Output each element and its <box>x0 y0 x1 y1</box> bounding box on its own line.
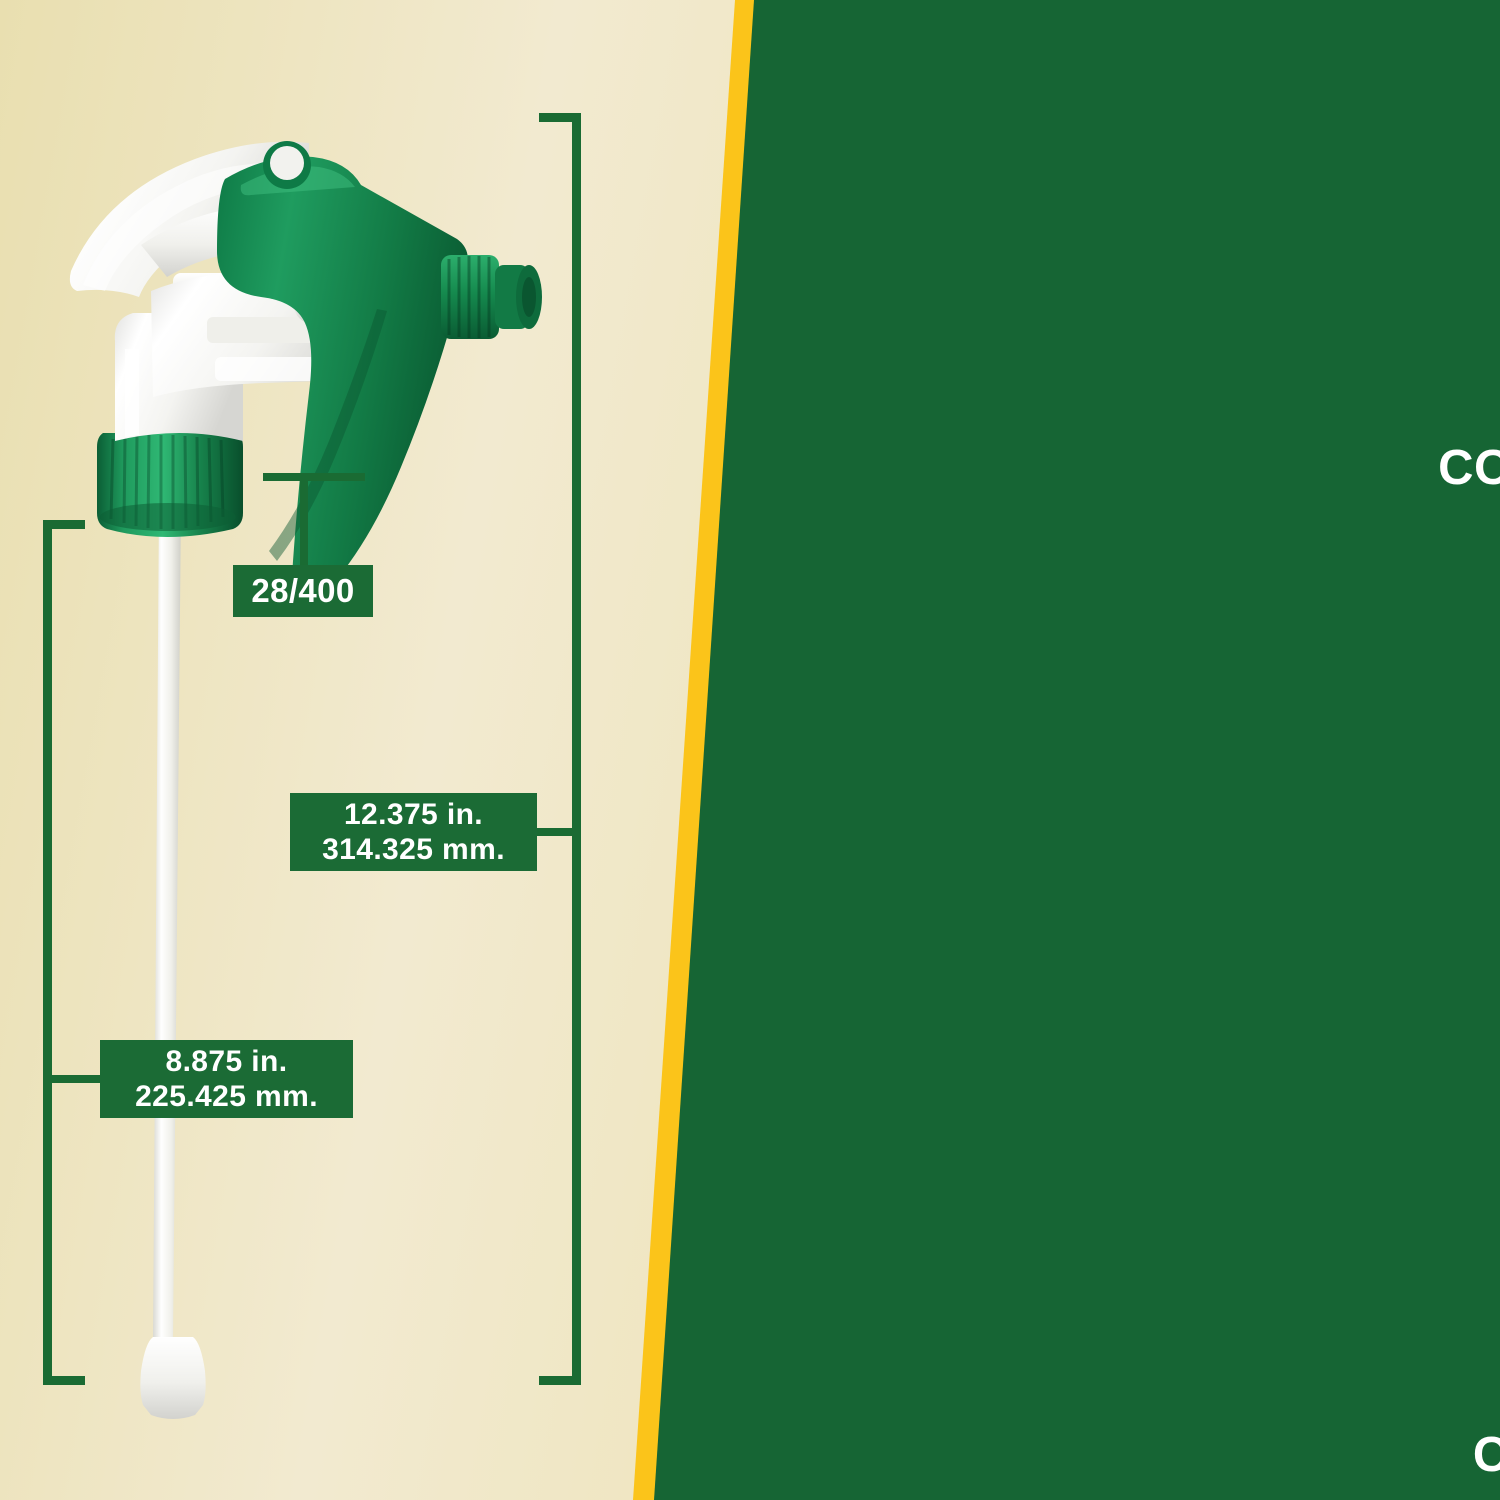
product-panel: 28/400 12.375 in. 314.325 mm. 8.875 in. … <box>0 0 760 1500</box>
feature-chemical-resistant: 250 200 <box>1340 1083 1500 1483</box>
callout-overall-length: 12.375 in. 314.325 mm. <box>290 793 537 871</box>
callout-neck-finish: 28/400 <box>233 565 373 617</box>
overall-leader-horizontal <box>533 828 579 836</box>
feature-no-leak-system: NO LEAK SYSTEM <box>1340 588 1500 994</box>
callout-neck-finish-line-1: 28/400 <box>251 572 354 611</box>
neck-leader-horizontal <box>263 473 365 481</box>
callout-dip-tube-length-line-1: 8.875 in. <box>165 1044 287 1079</box>
feature-chemical-resistant-title: CHEMICAL RESISTANT <box>1473 1427 1500 1483</box>
callout-overall-length-line-1: 12.375 in. <box>344 797 483 832</box>
trigger-sprayer-image <box>55 105 615 1425</box>
features-panel: COMFORTABLE TRIGGER <box>680 0 1500 1500</box>
feature-comfortable-trigger-title: COMFORTABLE TRIGGER <box>1438 440 1500 496</box>
tube-leader-horizontal <box>46 1075 108 1083</box>
neck-leader-vertical <box>300 473 308 569</box>
infographic-canvas: 28/400 12.375 in. 314.325 mm. 8.875 in. … <box>0 0 1500 1500</box>
feature-comfortable-trigger: COMFORTABLE TRIGGER <box>1340 88 1500 496</box>
callout-dip-tube-length: 8.875 in. 225.425 mm. <box>100 1040 353 1118</box>
callout-overall-length-line-2: 314.325 mm. <box>322 832 505 867</box>
callout-dip-tube-length-line-2: 225.425 mm. <box>135 1079 318 1114</box>
